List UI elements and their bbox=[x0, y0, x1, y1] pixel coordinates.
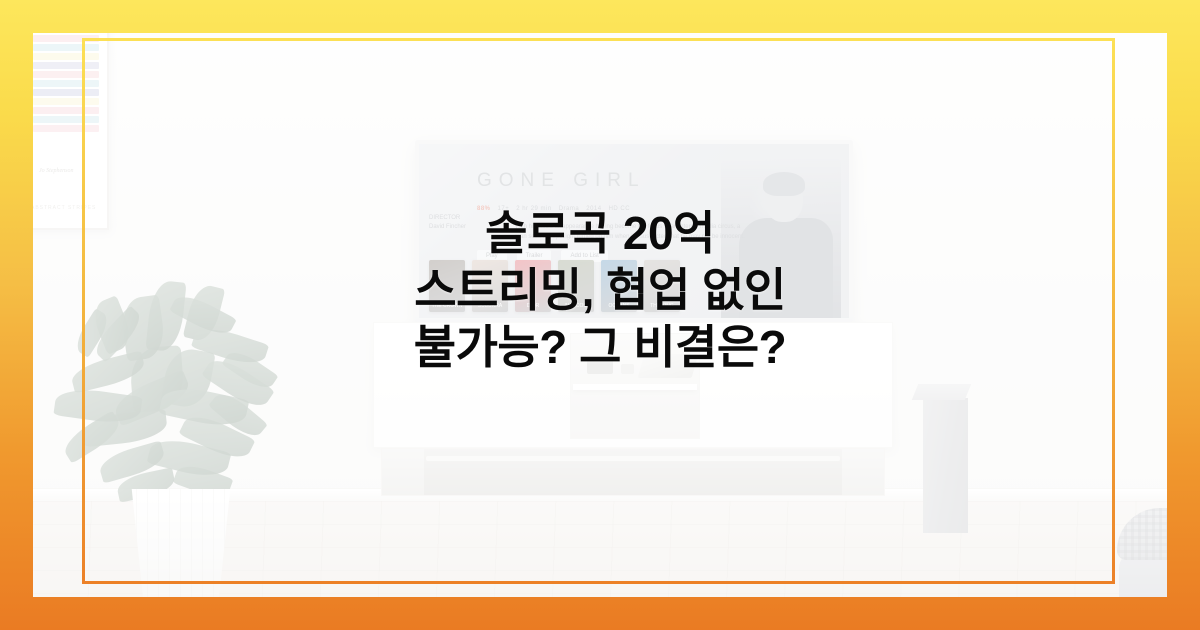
console-shelf bbox=[573, 384, 697, 390]
hero-hair bbox=[763, 172, 805, 196]
knitted-pouf bbox=[1117, 508, 1167, 597]
art-stripe-10 bbox=[33, 98, 99, 105]
art-stripe-11 bbox=[33, 107, 99, 114]
headline-line-2: 스트리밍, 협업 없인 bbox=[70, 262, 1130, 319]
art-stripe-8 bbox=[33, 80, 99, 87]
art-stripe-13 bbox=[33, 125, 99, 132]
console-foot-left bbox=[382, 449, 424, 495]
thumbnail-card: Jo Stephenson ABSTRACT STRIPES GONE GIRL… bbox=[0, 0, 1200, 630]
art-stripe-7 bbox=[33, 71, 99, 78]
console-lip bbox=[426, 456, 840, 461]
framed-wall-art: Jo Stephenson ABSTRACT STRIPES bbox=[33, 33, 109, 230]
art-stripes bbox=[33, 33, 99, 158]
floor-speaker bbox=[923, 398, 968, 533]
art-stripe-3 bbox=[33, 35, 99, 42]
art-stripe-4 bbox=[33, 44, 99, 51]
console-base bbox=[381, 448, 885, 496]
headline: 솔로곡 20억 스트리밍, 협업 없인 불가능? 그 비결은? bbox=[0, 205, 1200, 376]
art-signature: Jo Stephenson bbox=[39, 168, 74, 174]
speaker-top bbox=[912, 384, 971, 400]
plant-pot bbox=[125, 489, 237, 597]
movie-title: GONE GIRL bbox=[477, 170, 646, 192]
art-stripe-5 bbox=[33, 53, 99, 60]
headline-line-3: 불가능? 그 비결은? bbox=[70, 319, 1130, 376]
art-stripe-6 bbox=[33, 62, 99, 69]
headline-line-1: 솔로곡 20억 bbox=[70, 205, 1130, 262]
art-stripe-12 bbox=[33, 116, 99, 123]
console-foot-right bbox=[842, 449, 884, 495]
art-stripe-9 bbox=[33, 89, 99, 96]
pouf-basket bbox=[1117, 508, 1167, 560]
